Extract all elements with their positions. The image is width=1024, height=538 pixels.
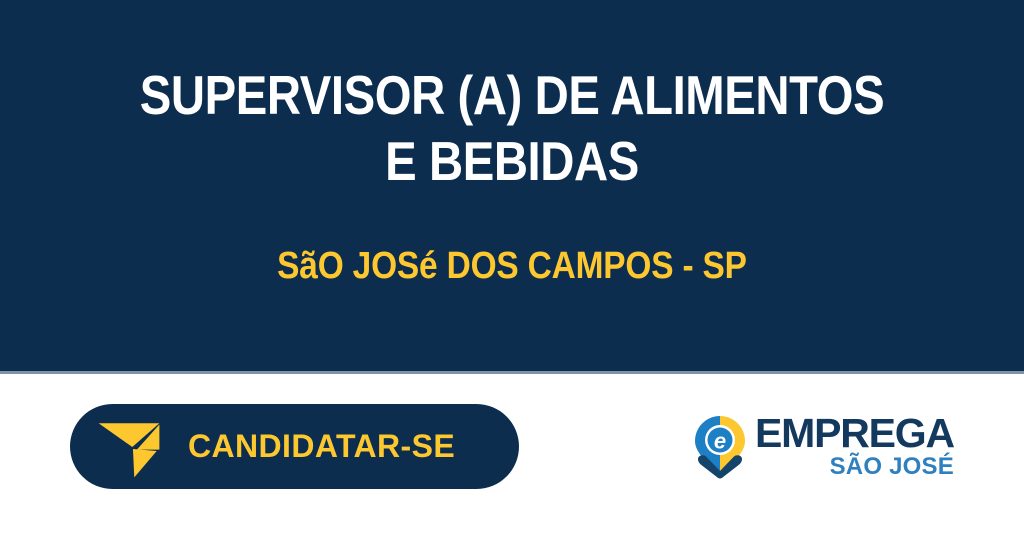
job-location: SãO JOSé DOS CAMPOS - SP <box>61 246 962 288</box>
brand-name: EMPREGA <box>755 414 954 453</box>
page-title: SUPERVISOR (A) DE ALIMENTOS E BEBIDAS <box>72 62 953 194</box>
apply-button[interactable]: CANDIDATAR-SE <box>70 404 519 489</box>
svg-text:e: e <box>714 429 726 454</box>
brand-subtitle: SÃO JOSÉ <box>830 454 954 479</box>
map-pin-with-e-icon: e <box>694 415 746 479</box>
apply-button-label: CANDIDATAR-SE <box>188 428 455 465</box>
job-posting-card: SUPERVISOR (A) DE ALIMENTOS E BEBIDAS Sã… <box>0 0 1024 538</box>
brand-logo[interactable]: e EMPREGA SÃO JOSÉ <box>694 404 954 490</box>
job-header-banner: SUPERVISOR (A) DE ALIMENTOS E BEBIDAS Sã… <box>0 0 1024 374</box>
brand-wordmark: EMPREGA SÃO JOSÉ <box>755 414 954 479</box>
action-bar: CANDIDATAR-SE e EMPREGA SÃO JOSÉ <box>0 374 1024 538</box>
send-paper-plane-icon <box>96 414 162 480</box>
